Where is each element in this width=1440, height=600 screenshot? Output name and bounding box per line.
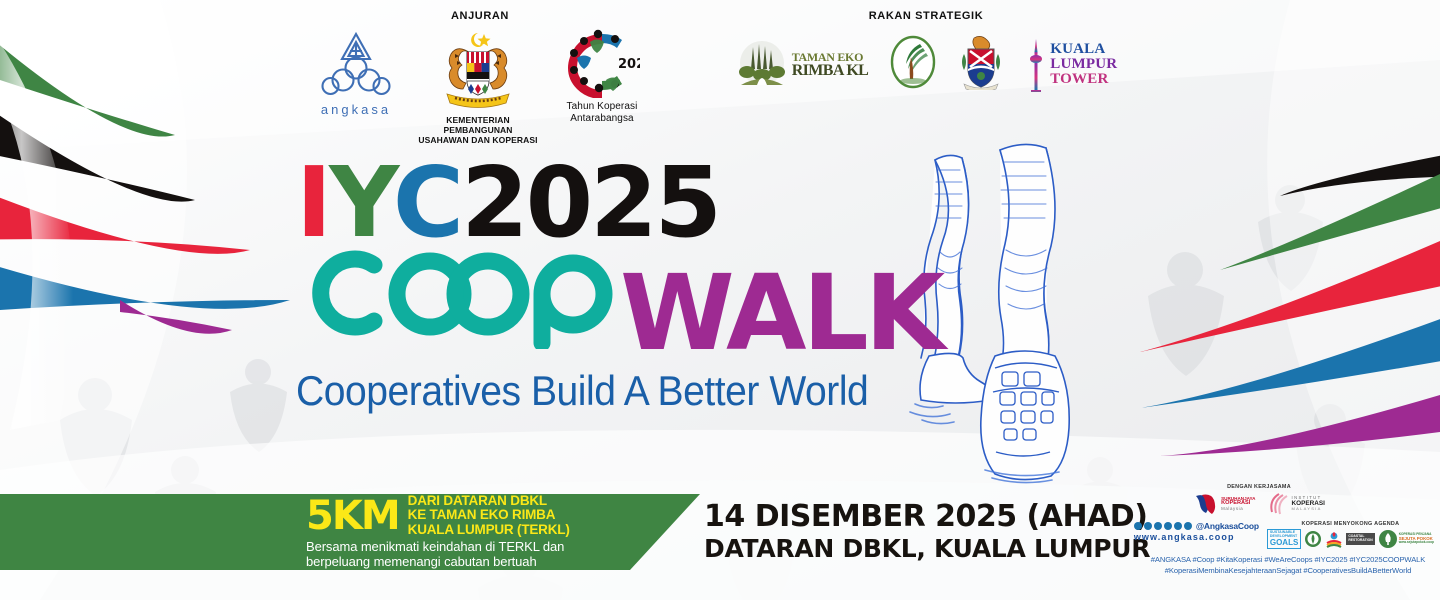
ikm-l3: MALAYSIA (1292, 507, 1325, 511)
sdg-l3: GOALS (1270, 539, 1298, 547)
title-line-coopwalk: WALK (296, 241, 941, 361)
logo-coastal: COASTAL RESTORATION (1346, 533, 1374, 544)
website-url[interactable]: www.angkasa.coop (1134, 532, 1235, 542)
instagram-icon[interactable] (1144, 522, 1152, 530)
route-line3: KUALA LUMPUR (TERKL) (408, 522, 570, 537)
organiser-group: ANJURAN (300, 10, 660, 145)
logo-ikm: INSTITUT KOPERASI MALAYSIA (1266, 492, 1325, 516)
social-column: @AngkasaCoop www.angkasa.coop (1134, 521, 1259, 542)
coastal-l2: RESTORATION (1348, 539, 1372, 543)
route-line1: DARI DATARAN DBKL (408, 493, 547, 508)
agenda-logos: SUSTAINABLE DEVELOPMENT GOALS (1267, 529, 1434, 549)
logo-bar: ANJURAN (0, 0, 1440, 150)
social-icons[interactable]: @AngkasaCoop (1134, 521, 1259, 531)
logo-kementerian: KEMENTERIAN PEMBANGUNANUSAHAWAN DAN KOPE… (416, 28, 540, 145)
main-title-block: IYC2025 WALK Cooperatives Build A Better… (296, 158, 941, 415)
partner-caption: RAKAN STRATEGIK (869, 10, 984, 22)
tahun-koperasi-caption: Tahun KoperasiAntarabangsa (567, 101, 638, 125)
angkasa-icon (320, 28, 392, 100)
route-note-line1: Bersama menikmati keindahan di TERKL dan (306, 539, 564, 554)
kl-tower-line3: TOWER (1050, 72, 1117, 87)
social-agenda-row: @AngkasaCoop www.angkasa.coop KOPERASI M… (1142, 521, 1434, 549)
route-band-content: 5KM DARI DATARAN DBKL KE TAMAN EKO RIMBA… (306, 494, 706, 570)
taman-eko-line2: RIMBA KL (792, 63, 869, 79)
taman-eko-line1: TAMAN EKO (792, 51, 869, 63)
coop-wordmark (296, 241, 626, 349)
logo-skm: SURUHANJAYA KOPERASI Malaysia (1193, 492, 1255, 516)
route-note: Bersama menikmati keindahan di TERKL dan… (306, 540, 706, 570)
taman-eko-rimba-icon (735, 39, 789, 91)
dbkl-crest-icon (958, 34, 1004, 90)
agenda-caption: KOPERASI MENYOKONG AGENDA (1302, 521, 1400, 527)
sejuta-pokok-icon (1378, 529, 1398, 549)
twitter-icon[interactable] (1154, 522, 1162, 530)
kementerian-caption: KEMENTERIAN PEMBANGUNANUSAHAWAN DAN KOPE… (416, 115, 540, 145)
organiser-caption: ANJURAN (451, 10, 509, 22)
angkasa-wordmark: angkasa (321, 102, 391, 117)
agenda-column: KOPERASI MENYOKONG AGENDA SUSTAINABLE DE… (1267, 521, 1434, 549)
logo-taman-eko-rimba: TAMAN EKO RIMBA KL (735, 39, 869, 91)
youtube-icon[interactable] (1164, 522, 1172, 530)
kl-tower-line2: LUMPUR (1050, 57, 1117, 72)
linkedin-icon[interactable] (1184, 522, 1192, 530)
logo-perhilitan (890, 35, 936, 94)
hashtags: #ANGKASA #Coop #KitaKoperasi #WeAreCoops… (1142, 554, 1434, 576)
ikm-icon (1266, 492, 1290, 516)
walk-wordmark: WALK (620, 267, 941, 361)
tagline: Cooperatives Build A Better World (296, 367, 896, 415)
tiktok-icon[interactable] (1174, 522, 1182, 530)
logo-tahun-koperasi: 2025 Tahun KoperasiAntarabangsa (554, 28, 650, 125)
event-details: 14 DISEMBER 2025 (AHAD) DATARAN DBKL, KU… (704, 500, 1150, 564)
facebook-icon[interactable] (1134, 522, 1142, 530)
partner-group: RAKAN STRATEGIK (716, 10, 1136, 95)
kl-tower-icon (1026, 38, 1046, 92)
collab-caption: DENGAN KERJASAMA (1142, 484, 1376, 490)
event-banner: ANJURAN (0, 0, 1440, 600)
skm-l3: Malaysia (1221, 507, 1255, 511)
skm-icon (1193, 492, 1219, 516)
logo-kl-tower: KUALA LUMPUR TOWER (1026, 38, 1117, 92)
perhilitan-icon (890, 35, 936, 89)
distance-row: 5KM DARI DATARAN DBKL KE TAMAN EKO RIMBA… (306, 494, 706, 537)
logo-angkasa: angkasa (310, 28, 402, 117)
sejuta-l3: www.sejutapokok.coop (1399, 541, 1434, 544)
coastal-fan-icon (1325, 530, 1343, 548)
logo-sejuta-pokok: KOPERASI PENJANA SEJUTA POKOK www.sejuta… (1378, 529, 1434, 549)
logo-sdg: SUSTAINABLE DEVELOPMENT GOALS (1267, 529, 1301, 548)
sponsor-cluster: DENGAN KERJASAMA SURUHANJAYA KOPERASI Ma… (1142, 484, 1434, 576)
kl-tower-line1: KUALA (1050, 42, 1117, 57)
hashtags-line1: #ANGKASA #Coop #KitaKoperasi #WeAreCoops… (1151, 555, 1426, 564)
event-venue: DATARAN DBKL, KUALA LUMPUR (704, 535, 1150, 564)
event-date: 14 DISEMBER 2025 (AHAD) (704, 500, 1150, 533)
route-description: DARI DATARAN DBKL KE TAMAN EKO RIMBA KUA… (408, 494, 570, 537)
route-line2: KE TAMAN EKO RIMBA (408, 507, 556, 522)
iyc2025-c-icon: 2025 (564, 28, 640, 98)
hashtags-line2: #KoperasiMembinaKesejahteraanSejagat #Co… (1165, 566, 1411, 575)
title-line-iyc: IYC2025 (296, 158, 941, 247)
logo-dbkl-crest (958, 34, 1004, 95)
collab-logos-row: SURUHANJAYA KOPERASI Malaysia INSTITUT K… (1142, 492, 1376, 516)
jata-negara-icon (435, 28, 521, 112)
social-handle[interactable]: @AngkasaCoop (1196, 521, 1259, 531)
mbjk-icon (1304, 530, 1322, 548)
distance-value: 5KM (306, 496, 399, 536)
route-note-line2: berpeluang memenangi cabutan bertuah (306, 554, 537, 569)
iyc-year-text: 2025 (618, 57, 640, 72)
